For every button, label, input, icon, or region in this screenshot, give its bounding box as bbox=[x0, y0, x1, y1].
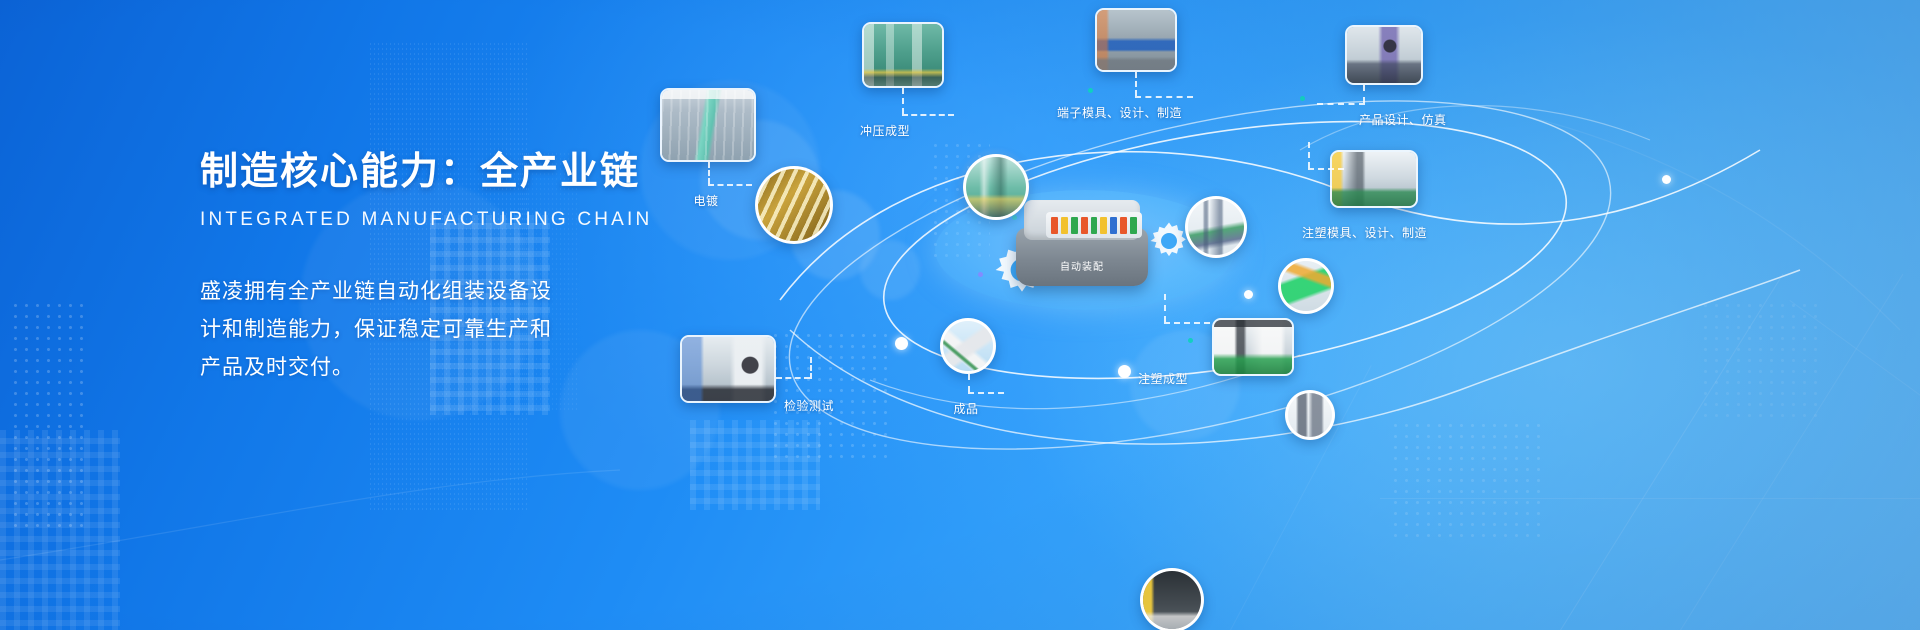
node-inspection-test[interactable]: 检验测试 bbox=[680, 335, 776, 403]
connector-line bbox=[1363, 85, 1365, 103]
node-finished-product[interactable]: 成品 bbox=[940, 318, 996, 374]
component-chip bbox=[1100, 217, 1107, 234]
connector-line bbox=[1135, 96, 1193, 98]
connector-line bbox=[1164, 322, 1210, 324]
component-chip bbox=[1110, 217, 1117, 234]
finished-product-thumbnail bbox=[940, 318, 996, 374]
path-node-dot bbox=[1118, 365, 1131, 378]
connector-line bbox=[1308, 142, 1310, 168]
automatic-assembly-machine: 自动装配 bbox=[1012, 194, 1152, 289]
center-label: 自动装配 bbox=[1012, 258, 1152, 273]
node-stamping[interactable]: 冲压成型 bbox=[862, 22, 944, 88]
node-label-terminal-mold: 端子模具、设计、制造 bbox=[1057, 104, 1182, 121]
plating-photo bbox=[660, 88, 756, 162]
injection-molding-photo bbox=[1212, 318, 1294, 376]
node-plating[interactable]: 电镀 bbox=[660, 88, 756, 162]
component-chip bbox=[1091, 217, 1098, 234]
connector-line bbox=[776, 377, 810, 379]
stamping-machine-thumbnail bbox=[963, 154, 1029, 220]
path-node-dot bbox=[895, 337, 908, 350]
page-title: 制造核心能力：全产业链 bbox=[200, 140, 620, 195]
component-chip bbox=[1051, 217, 1058, 234]
spark-dot bbox=[1088, 88, 1093, 93]
injection-machine-thumbnail bbox=[1140, 568, 1204, 630]
connector-line bbox=[902, 88, 904, 114]
machine-tray bbox=[1046, 212, 1142, 238]
description-line: 盛凌拥有全产业链自动化组装设备设 bbox=[200, 273, 620, 311]
node-label-injection-molding: 注塑成型 bbox=[1138, 370, 1188, 387]
connector-line bbox=[708, 184, 752, 186]
spark-dot bbox=[1188, 338, 1193, 343]
banner-description: 盛凌拥有全产业链自动化组装设备设 计和制造能力，保证稳定可靠生产和 产品及时交付… bbox=[200, 273, 620, 387]
injection-mold-thumbnail bbox=[1285, 390, 1335, 440]
connector-line bbox=[810, 357, 812, 379]
connector-line bbox=[1308, 168, 1344, 170]
connector-line bbox=[1135, 72, 1137, 96]
terminal-mold-photo bbox=[1095, 8, 1177, 72]
component-chip bbox=[1130, 217, 1137, 234]
page-subtitle: INTEGRATED MANUFACTURING CHAIN bbox=[200, 209, 620, 231]
node-label-inspection-test: 检验测试 bbox=[784, 397, 834, 414]
node-label-injection-mold: 注塑模具、设计、制造 bbox=[1302, 224, 1427, 241]
path-node-dot bbox=[1244, 290, 1253, 299]
node-label-plating: 电镀 bbox=[693, 192, 718, 209]
connector-line bbox=[708, 162, 710, 184]
connector-line bbox=[902, 114, 954, 116]
component-chip bbox=[1120, 217, 1127, 234]
orbit-paths bbox=[640, 0, 1920, 630]
component-chip bbox=[1071, 217, 1078, 234]
banner-stage: 制造核心能力：全产业链 INTEGRATED MANUFACTURING CHA… bbox=[0, 0, 1920, 630]
description-line: 计和制造能力，保证稳定可靠生产和 bbox=[200, 311, 620, 349]
connector-line bbox=[968, 392, 1004, 394]
node-product-design[interactable]: 产品设计、仿真 bbox=[1345, 25, 1423, 85]
component-chip bbox=[1081, 217, 1088, 234]
connector-line bbox=[968, 374, 970, 392]
terminal-mold-thumbnail bbox=[1185, 196, 1247, 258]
node-injection-molding[interactable]: 注塑成型 bbox=[1212, 318, 1294, 376]
banner-copy: 制造核心能力：全产业链 INTEGRATED MANUFACTURING CHA… bbox=[200, 140, 620, 387]
injection-mold-photo bbox=[1330, 150, 1418, 208]
node-terminal-mold[interactable]: 端子模具、设计、制造 bbox=[1095, 8, 1177, 72]
node-label-product-design: 产品设计、仿真 bbox=[1359, 111, 1447, 128]
connector-line bbox=[1317, 103, 1365, 105]
gear-icon bbox=[1148, 220, 1190, 262]
product-design-photo bbox=[1345, 25, 1423, 85]
component-chip bbox=[1061, 217, 1068, 234]
machine-top bbox=[1024, 200, 1140, 240]
node-injection-mold[interactable]: 注塑模具、设计、制造 bbox=[1330, 150, 1418, 208]
connector-line bbox=[1164, 294, 1166, 322]
manufacturing-chain-diagram: 自动装配 电镀 bbox=[640, 0, 1920, 630]
path-node-dot bbox=[1662, 175, 1671, 184]
plated-part-thumbnail bbox=[755, 166, 833, 244]
description-line: 产品及时交付。 bbox=[200, 349, 620, 387]
inspection-photo bbox=[680, 335, 776, 403]
stamping-photo bbox=[862, 22, 944, 88]
spark-dot bbox=[1300, 96, 1305, 101]
3d-model-thumbnail bbox=[1278, 258, 1334, 314]
node-label-stamping: 冲压成型 bbox=[860, 122, 910, 139]
node-label-finished-product: 成品 bbox=[953, 400, 978, 417]
